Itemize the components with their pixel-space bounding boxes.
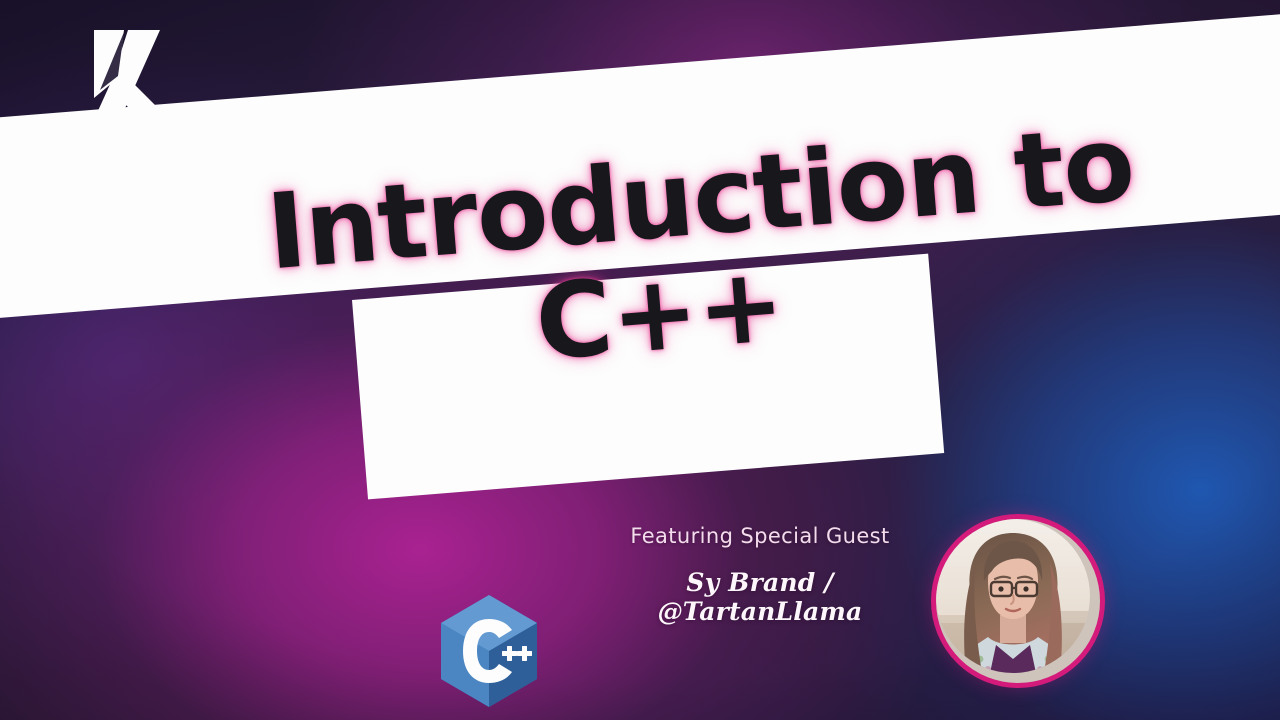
cpp-logo-icon xyxy=(437,593,541,709)
guest-name: Sy Brand / @TartanLlama xyxy=(600,568,920,626)
featuring-label: Featuring Special Guest xyxy=(600,524,920,548)
avatar xyxy=(931,514,1105,688)
slide-canvas: RAWKODE Introduction to C++ Featuring Sp… xyxy=(0,0,1280,720)
featuring-block: Featuring Special Guest Sy Brand / @Tart… xyxy=(600,524,920,626)
